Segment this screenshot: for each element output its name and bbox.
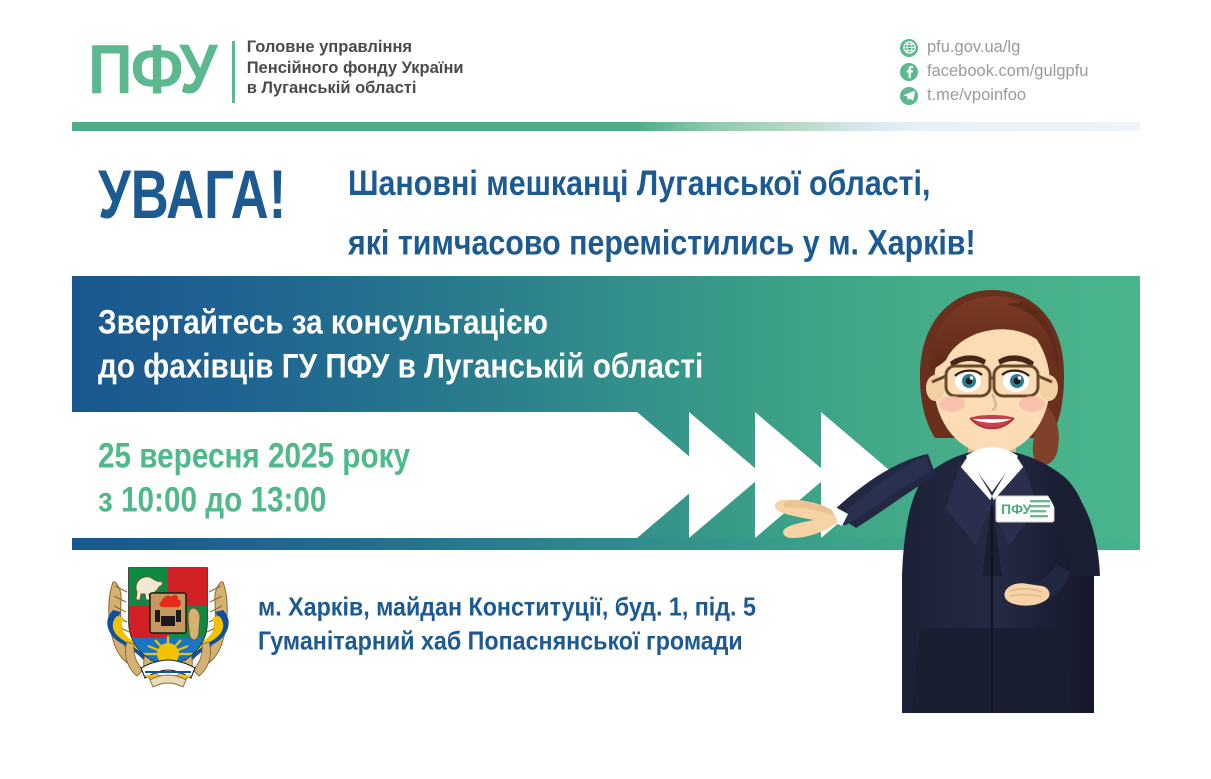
address-line-2: Гуманітарний хаб Попаснянської громади xyxy=(258,622,756,659)
facebook-icon xyxy=(900,63,918,81)
logo-line-2: Пенсійного фонду України xyxy=(247,58,464,79)
header-divider-rule xyxy=(72,122,1140,131)
contact-facebook[interactable]: facebook.com/gulgpfu xyxy=(900,62,1088,81)
headline-message-line-1: Шановні мешканці Луганської області, xyxy=(348,154,976,213)
event-time: з 10:00 до 13:00 xyxy=(98,475,410,527)
headline-message-line-2: які тимчасово перемістились у м. Харків! xyxy=(348,213,976,272)
chevron-icon-1 xyxy=(689,412,763,538)
contact-telegram-text: t.me/vpoinfoo xyxy=(927,86,1026,105)
banner-line-1: Звертайтесь за консультацією xyxy=(98,298,703,349)
event-address: м. Харків, майдан Конституції, буд. 1, п… xyxy=(258,588,761,656)
contact-telegram[interactable]: t.me/vpoinfoo xyxy=(900,86,1088,105)
luhansk-oblast-coat-of-arms-icon xyxy=(93,550,243,700)
globe-icon xyxy=(900,39,918,57)
contact-website[interactable]: pfu.gov.ua/lg xyxy=(900,38,1088,57)
logo-line-3: в Луганській області xyxy=(247,78,464,99)
event-datetime: 25 вересня 2025 року з 10:00 до 13:00 xyxy=(98,431,413,519)
organization-logo: ПФУ Головне управління Пенсійного фонду … xyxy=(88,35,464,103)
banner-line-2: до фахівців ГУ ПФУ в Луганській області xyxy=(98,342,703,393)
badge-text: ПФУ xyxy=(1001,501,1031,517)
attention-label: УВАГА! xyxy=(98,158,286,231)
contact-facebook-text: facebook.com/gulgpfu xyxy=(927,62,1088,81)
pfu-logo-mark: ПФУ xyxy=(88,35,216,107)
contact-website-text: pfu.gov.ua/lg xyxy=(927,38,1020,57)
logo-line-1: Головне управління xyxy=(247,37,464,58)
headline-section: УВАГА! Шановні мешканці Луганської облас… xyxy=(0,148,1211,258)
banner-invitation-text: Звертайтесь за консультацією до фахівців… xyxy=(98,298,709,386)
contact-links: pfu.gov.ua/lg facebook.com/gulgpfu t.me/… xyxy=(900,38,1088,110)
logo-organization-name: Головне управління Пенсійного фонду Укра… xyxy=(247,37,464,99)
headline-message: Шановні мешканці Луганської області, які… xyxy=(348,154,976,273)
female-consultant-illustration: ПФУ xyxy=(770,276,1211,713)
logo-divider xyxy=(232,41,235,103)
address-line-1: м. Харків, майдан Конституції, буд. 1, п… xyxy=(258,588,756,625)
telegram-icon xyxy=(900,87,918,105)
page-header: ПФУ Головне управління Пенсійного фонду … xyxy=(0,0,1211,130)
